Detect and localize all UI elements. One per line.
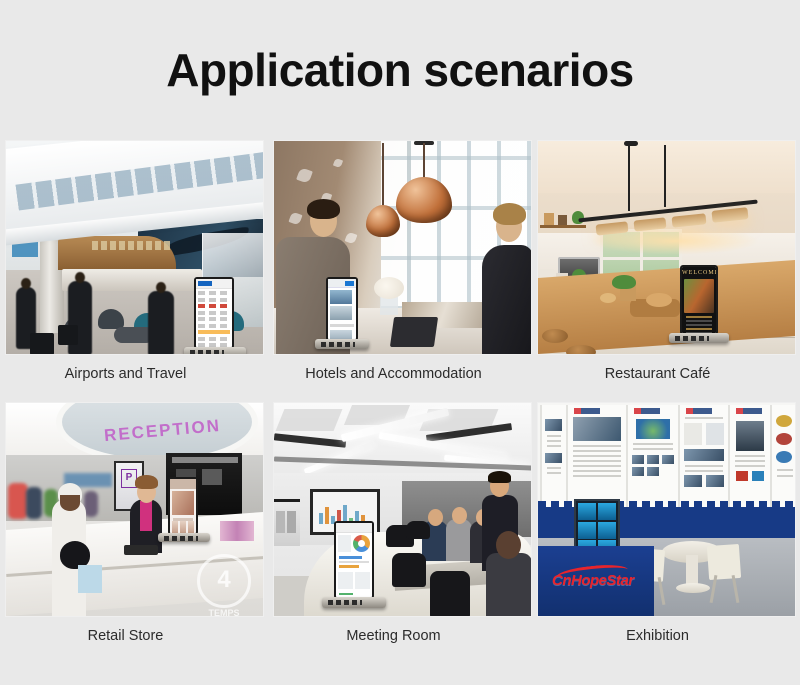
scenario-caption-meeting-room: Meeting Room <box>273 626 532 646</box>
scenario-row-2: RECEPTION P <box>0 402 800 664</box>
scenario-image-hotels-and-accommodation <box>273 140 532 355</box>
scenario-image-exhibition: CnHopeStar <box>537 402 796 617</box>
beauty-promo-screen <box>170 479 196 533</box>
scenario-image-restaurant-cafe: WELCOME <box>537 140 796 355</box>
hotel-receptionist <box>482 245 532 355</box>
booth-brand-logo: CnHopeStar <box>552 572 634 589</box>
scenario-card-hotels-and-accommodation[interactable]: Hotels and Accommodation <box>273 140 532 384</box>
page-title: Application scenarios <box>0 44 800 96</box>
scenario-caption-airports-and-travel: Airports and Travel <box>5 364 264 384</box>
flight-information-screen <box>196 279 232 347</box>
scenario-image-airports-and-travel <box>5 140 264 355</box>
scenario-card-meeting-room[interactable]: Meeting Room <box>273 402 532 646</box>
scenario-image-retail-store: RECEPTION P <box>5 402 264 617</box>
scenario-caption-retail-store: Retail Store <box>5 626 264 646</box>
dashboard-screen <box>336 523 372 597</box>
scenario-image-meeting-room <box>273 402 532 617</box>
digital-menu-screen: WELCOME <box>682 267 716 333</box>
mall-logo: 4 TEMPS <box>189 554 259 614</box>
scenario-caption-hotels-and-accommodation: Hotels and Accommodation <box>273 364 532 384</box>
scenario-row-1: Airports and Travel <box>0 140 800 402</box>
booth-counter: CnHopeStar <box>537 546 654 616</box>
hotel-services-screen <box>328 279 356 339</box>
scenario-caption-exhibition: Exhibition <box>537 626 796 646</box>
scenario-card-retail-store[interactable]: RECEPTION P <box>5 402 264 646</box>
scenario-card-airports-and-travel[interactable]: Airports and Travel <box>5 140 264 384</box>
scenario-card-restaurant-cafe[interactable]: WELCOME <box>537 140 796 384</box>
scenario-grid: Airports and Travel <box>0 140 800 664</box>
scenario-card-exhibition[interactable]: CnHopeStar Exhibition <box>537 402 796 646</box>
menu-welcome-text: WELCOME <box>682 270 716 276</box>
scenario-caption-restaurant-cafe: Restaurant Café <box>537 364 796 384</box>
application-scenarios-page: Application scenarios <box>0 0 800 685</box>
